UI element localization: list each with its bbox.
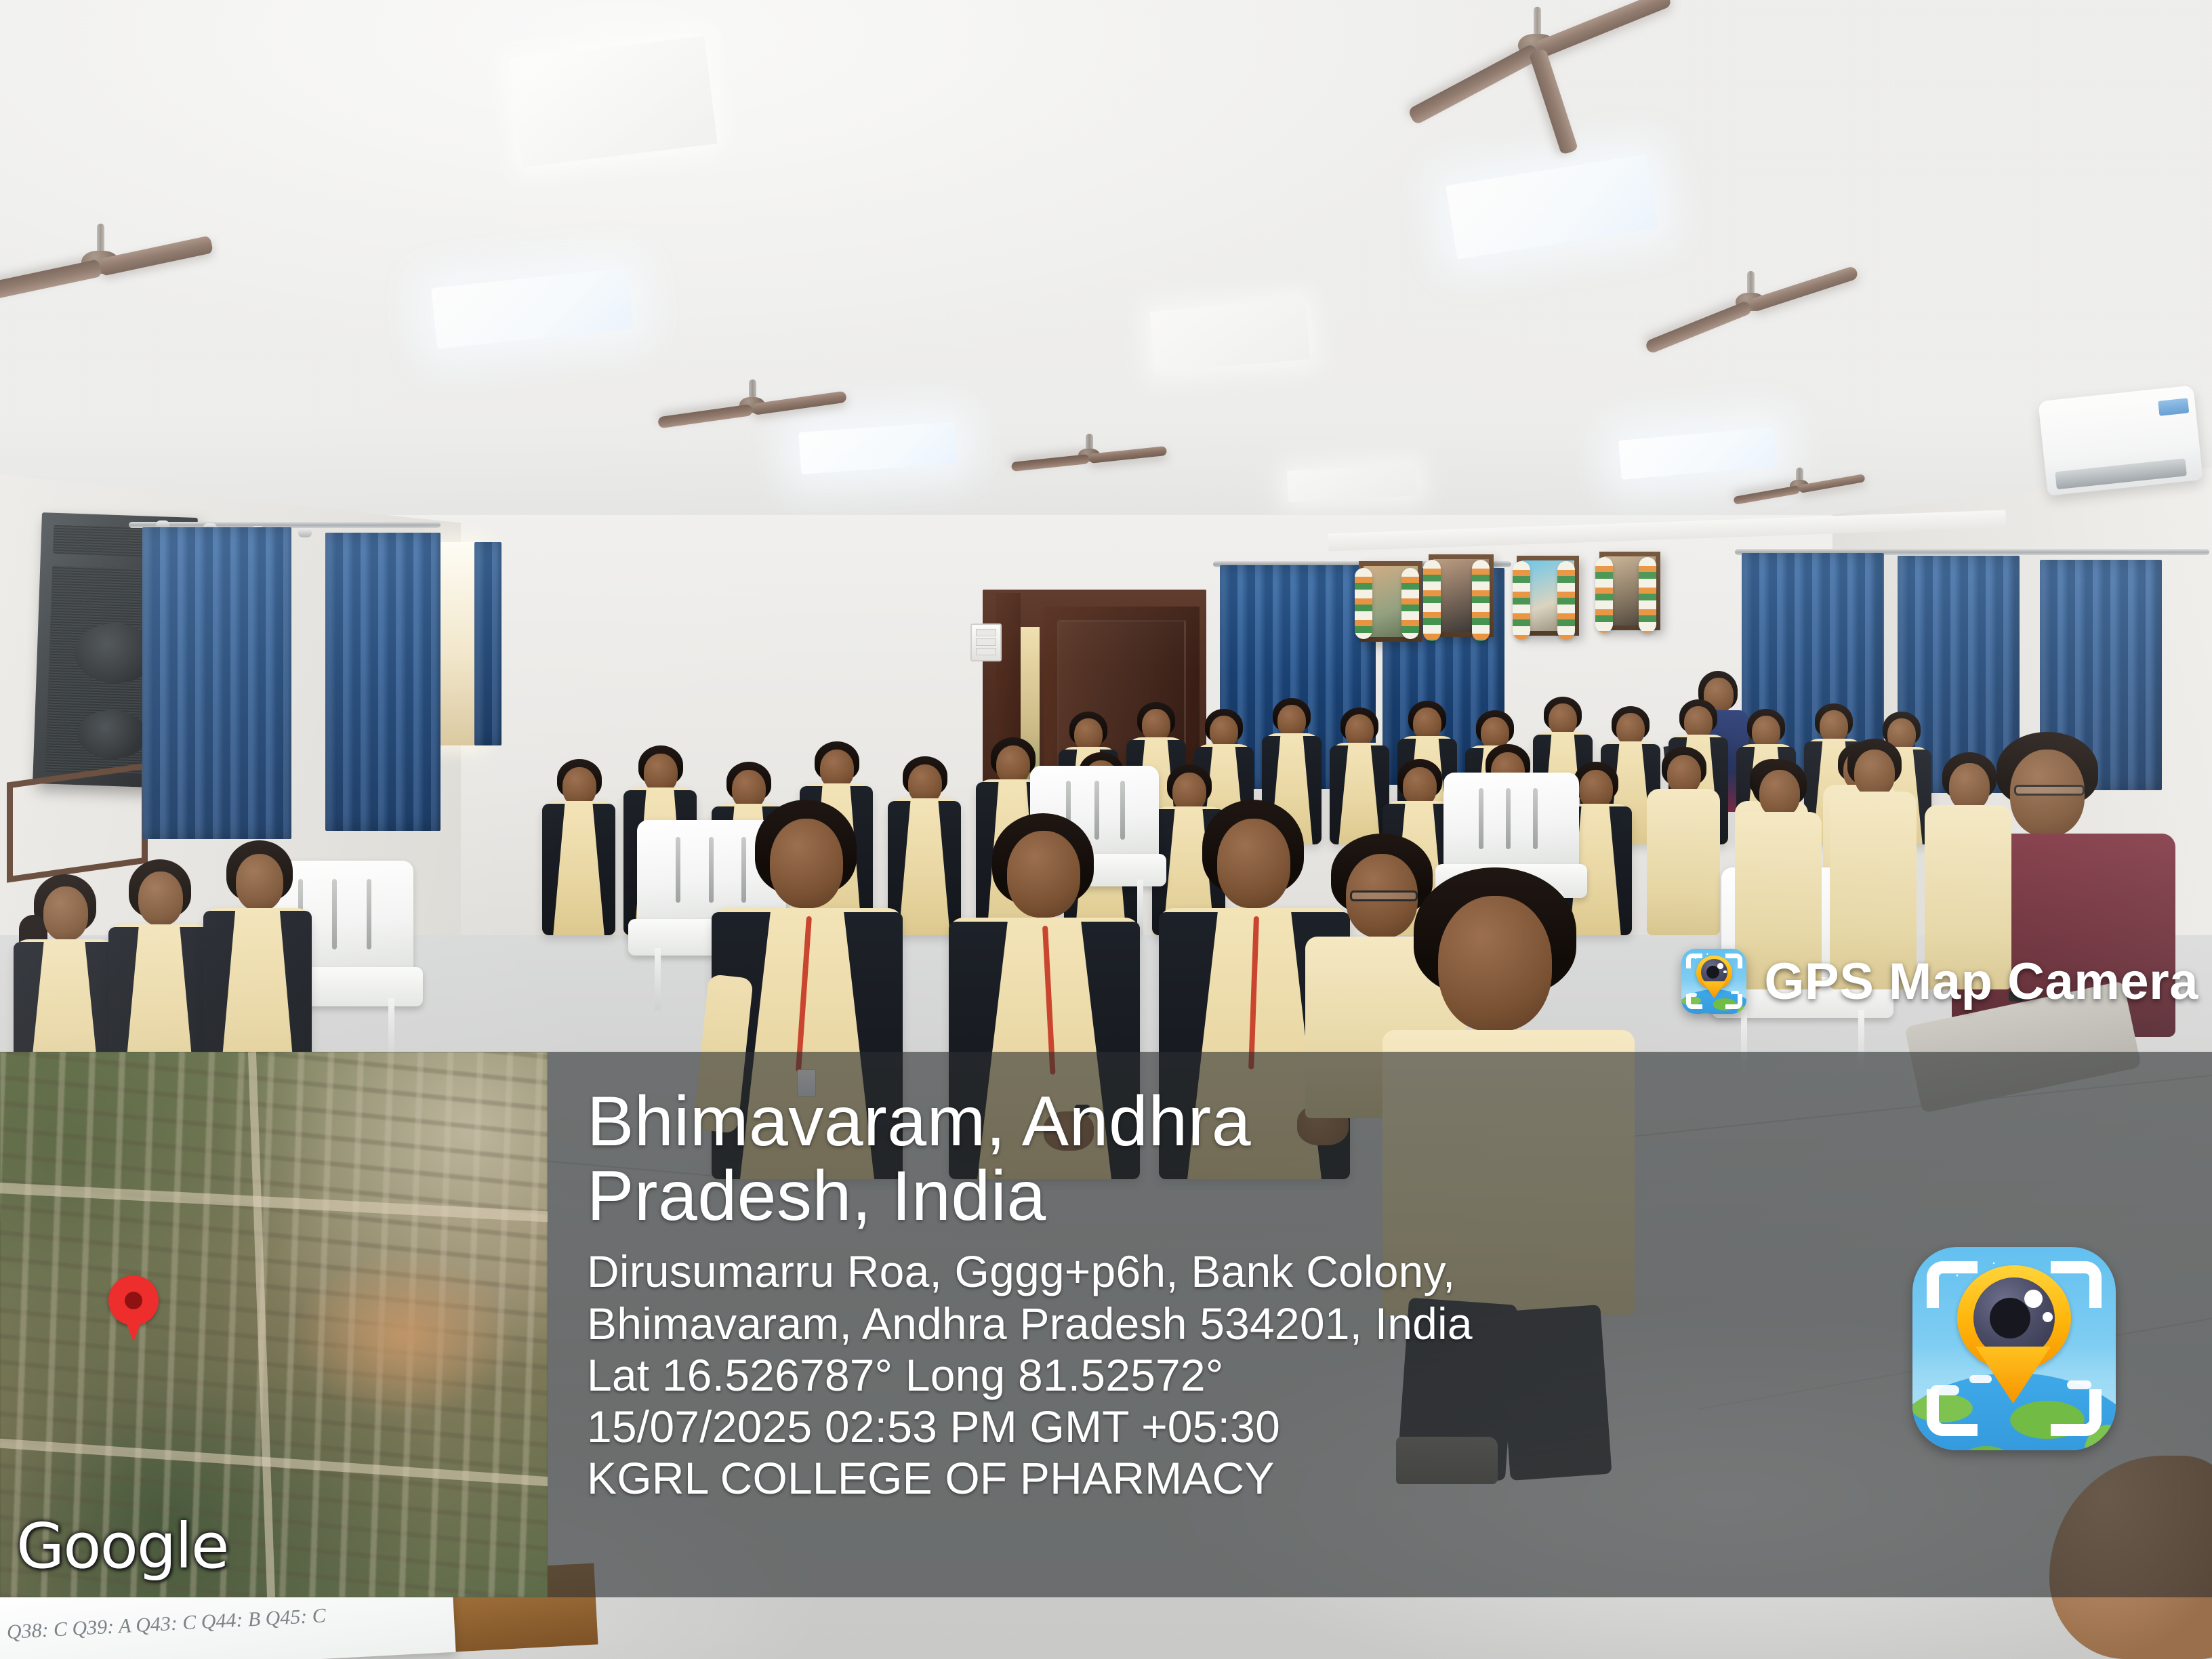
eyeglasses bbox=[2014, 785, 2085, 796]
garland bbox=[1595, 557, 1613, 633]
screenshot-root: Q38: C Q39: A Q43: C Q44: B Q45: C GPS M… bbox=[0, 0, 2212, 1659]
light-switch-plate[interactable] bbox=[970, 623, 1002, 661]
garland bbox=[1639, 557, 1656, 633]
garland bbox=[1401, 568, 1419, 639]
coordinates-line: Lat 16.526787° Long 81.52572° bbox=[587, 1349, 2078, 1401]
address-line-1: Dirusumarru Roa, Gggg+p6h, Bank Colony, bbox=[587, 1246, 2078, 1297]
city-line-1: Bhimavaram, Andhra bbox=[587, 1084, 2078, 1159]
place-note-line: KGRL COLLEGE OF PHARMACY bbox=[587, 1452, 2078, 1504]
garland bbox=[1513, 561, 1530, 640]
gps-map-camera-label: GPS Map Camera bbox=[1764, 952, 2198, 1011]
garland bbox=[1472, 560, 1490, 641]
city-line-2: Pradesh, India bbox=[587, 1159, 2078, 1233]
address-line-2: Bhimavaram, Andhra Pradesh 534201, India bbox=[587, 1298, 2078, 1349]
audience-left-cluster bbox=[14, 773, 488, 1098]
garland bbox=[1423, 560, 1441, 641]
timestamp-line: 15/07/2025 02:53 PM GMT +05:30 bbox=[587, 1401, 2078, 1452]
gps-map-camera-icon bbox=[1681, 949, 1746, 1014]
gps-map-camera-watermark: GPS Map Camera bbox=[1681, 949, 2198, 1014]
map-thumbnail[interactable]: Google bbox=[0, 1052, 548, 1597]
air-conditioner bbox=[2038, 385, 2203, 495]
google-wordmark: Google bbox=[16, 1510, 228, 1582]
curtain-grommet bbox=[298, 529, 312, 537]
map-location-pin bbox=[108, 1275, 159, 1326]
garland bbox=[1557, 561, 1575, 640]
garland bbox=[1355, 568, 1372, 639]
window-curtain bbox=[474, 542, 501, 745]
gps-map-camera-icon-large bbox=[1912, 1247, 2116, 1450]
location-text-block: Bhimavaram, Andhra Pradesh, India Dirusu… bbox=[587, 1084, 2078, 1504]
